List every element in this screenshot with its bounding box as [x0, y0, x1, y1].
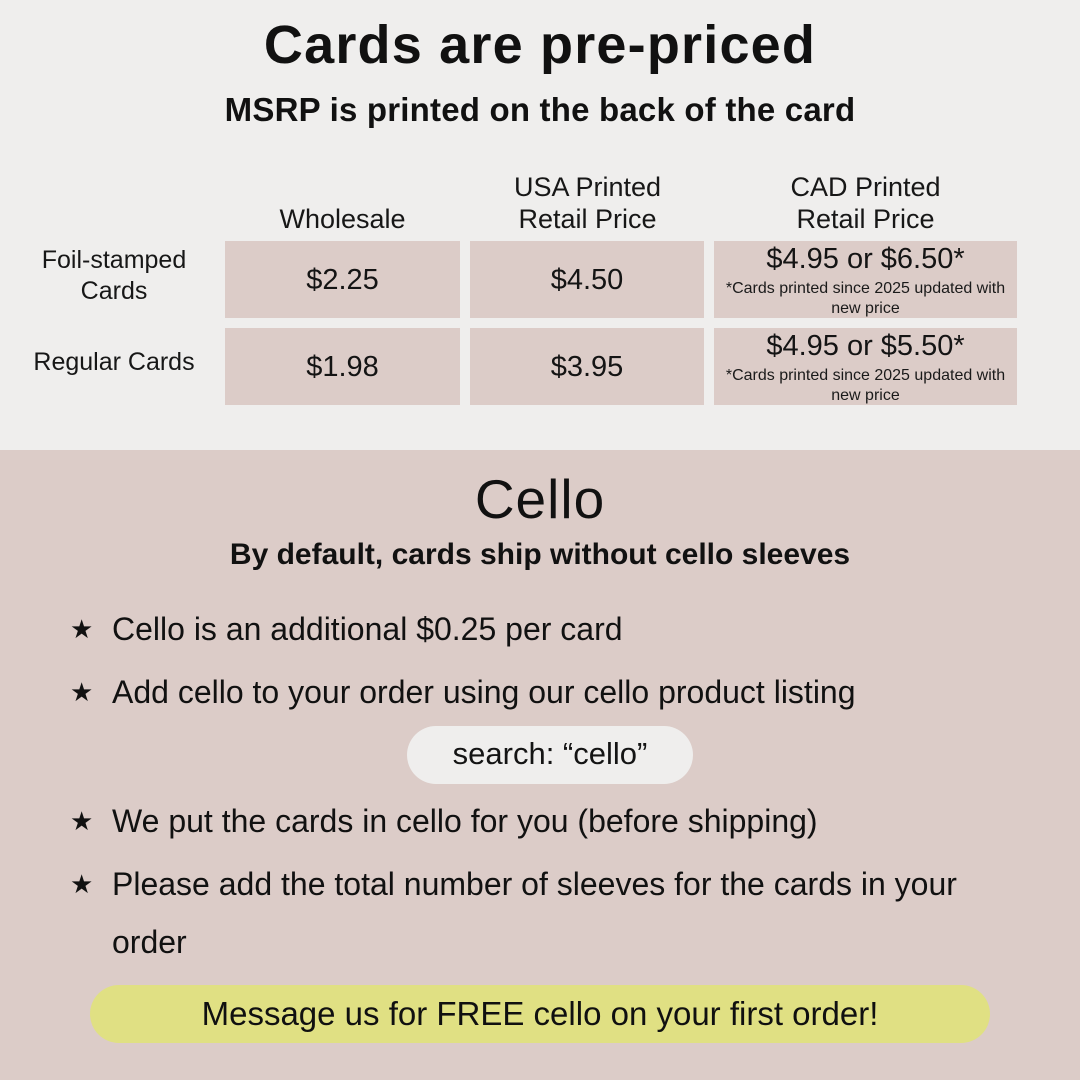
cell-value: $4.95 or $5.50*: [766, 328, 964, 364]
row-header-foil-line2: Cards: [14, 276, 214, 307]
cell-footnote: *Cards printed since 2025 updated with n…: [714, 366, 1017, 406]
column-header-cad-line1: CAD Printed: [714, 171, 1017, 203]
row-header-foil-stamped: Foil-stamped Cards: [14, 245, 214, 307]
search-hint-pill[interactable]: search: “cello”: [407, 726, 694, 784]
list-item: ★ Add cello to your order using our cell…: [70, 663, 1030, 721]
cello-subtitle: By default, cards ship without cello sle…: [0, 535, 1080, 575]
cell-regular-cad: $4.95 or $5.50* *Cards printed since 202…: [714, 328, 1017, 405]
cell-value: $4.50: [551, 262, 624, 298]
cta-banner[interactable]: Message us for FREE cello on your first …: [90, 985, 990, 1043]
cell-value: $1.98: [306, 349, 379, 385]
pricing-section: Cards are pre-priced MSRP is printed on …: [0, 0, 1080, 450]
cell-value: $3.95: [551, 349, 624, 385]
cell-value: $2.25: [306, 262, 379, 298]
cello-bullet-list: ★ Cello is an additional $0.25 per card …: [70, 600, 1030, 976]
star-icon: ★: [70, 855, 112, 913]
cell-regular-usa: $3.95: [470, 328, 704, 405]
column-header-usa-line1: USA Printed: [470, 171, 705, 203]
star-icon: ★: [70, 600, 112, 658]
star-icon: ★: [70, 663, 112, 721]
row-header-regular: Regular Cards: [14, 347, 214, 378]
cta-label: Message us for FREE cello on your first …: [202, 993, 879, 1035]
list-item-label: We put the cards in cello for you (befor…: [112, 792, 1030, 850]
cell-regular-wholesale: $1.98: [225, 328, 460, 405]
cell-foil-wholesale: $2.25: [225, 241, 460, 318]
cell-foil-cad: $4.95 or $6.50* *Cards printed since 202…: [714, 241, 1017, 318]
column-header-cad: CAD Printed Retail Price: [714, 171, 1017, 235]
page-title: Cards are pre-priced: [0, 14, 1080, 76]
list-item: ★ Cello is an additional $0.25 per card: [70, 600, 1030, 658]
page-subtitle: MSRP is printed on the back of the card: [0, 88, 1080, 132]
infographic-page: Cards are pre-priced MSRP is printed on …: [0, 0, 1080, 1080]
cello-title: Cello: [0, 466, 1080, 532]
column-header-usa-line2: Retail Price: [470, 203, 705, 235]
cell-footnote: *Cards printed since 2025 updated with n…: [714, 279, 1017, 319]
list-item-label: Add cello to your order using our cello …: [112, 663, 1030, 721]
list-item-label: Please add the total number of sleeves f…: [112, 855, 1030, 971]
row-header-foil-line1: Foil-stamped: [14, 245, 214, 276]
cello-section: Cello By default, cards ship without cel…: [0, 450, 1080, 1080]
row-header-regular-line1: Regular Cards: [14, 347, 214, 378]
list-item-label: Cello is an additional $0.25 per card: [112, 600, 1030, 658]
list-item: ★ We put the cards in cello for you (bef…: [70, 792, 1030, 850]
search-hint-row: search: “cello”: [70, 726, 1030, 784]
pricing-table: Wholesale USA Printed Retail Price CAD P…: [0, 165, 1080, 415]
column-header-cad-line2: Retail Price: [714, 203, 1017, 235]
list-item: ★ Please add the total number of sleeves…: [70, 855, 1030, 971]
cell-value: $4.95 or $6.50*: [766, 241, 964, 277]
column-header-wholesale: Wholesale: [225, 203, 460, 235]
column-header-usa: USA Printed Retail Price: [470, 171, 705, 235]
star-icon: ★: [70, 792, 112, 850]
cell-foil-usa: $4.50: [470, 241, 704, 318]
